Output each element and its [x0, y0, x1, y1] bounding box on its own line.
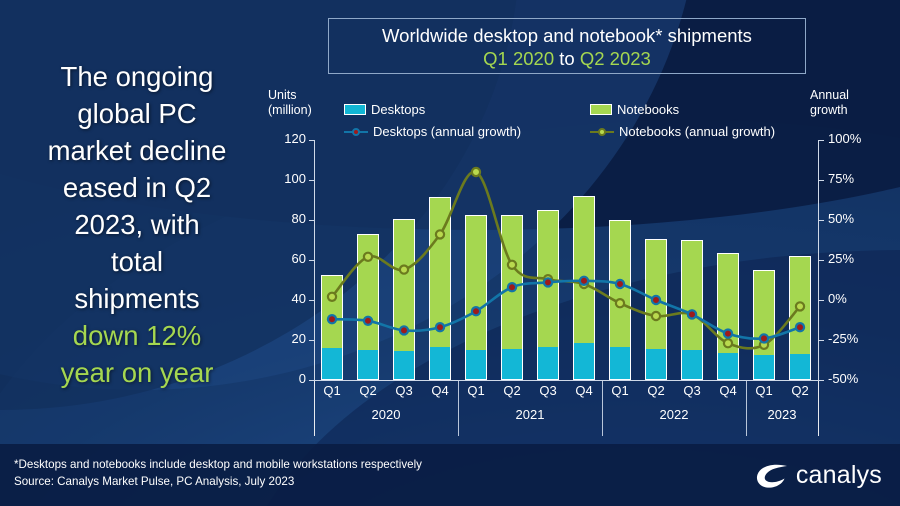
notebooks-growth-marker [364, 253, 372, 261]
chart-x-axis: Q1Q2Q3Q4Q1Q2Q3Q4Q1Q2Q3Q4Q1Q2202020212022… [314, 381, 818, 437]
x-tick-label-quarter: Q3 [530, 383, 566, 398]
headline-line: market decline [6, 132, 268, 169]
year-group-separator [602, 381, 603, 436]
growth-lines-layer [314, 140, 818, 380]
x-tick-label-quarter: Q4 [566, 383, 602, 398]
y-tick-label-right: 100% [828, 131, 884, 146]
desktops-growth-marker [616, 280, 624, 288]
desktops-growth-marker [472, 307, 480, 315]
y-tick-label-right: 50% [828, 211, 884, 226]
legend-label-notebooks-growth: Notebooks (annual growth) [619, 124, 775, 139]
chart-title-box: Worldwide desktop and notebook* shipment… [328, 18, 806, 74]
y-tick-label-left: 120 [258, 131, 306, 146]
canalys-swoosh-icon [755, 460, 789, 490]
x-axis-border [818, 381, 819, 436]
notebooks-growth-marker [508, 261, 516, 269]
right-axis-caption-line1: Annual [810, 88, 849, 103]
y-tick-label-right: 0% [828, 291, 884, 306]
x-tick-label-quarter: Q1 [602, 383, 638, 398]
x-tick-label-quarter: Q2 [494, 383, 530, 398]
notebooks-growth-marker [616, 299, 624, 307]
chart-title-line1: Worldwide desktop and notebook* shipment… [329, 24, 805, 47]
y-tick-right [819, 340, 824, 341]
desktops-growth-marker [328, 315, 336, 323]
y-tick-label-left: 60 [258, 251, 306, 266]
legend-label-desktops: Desktops [371, 102, 425, 117]
notebooks-growth-marker [472, 168, 480, 176]
desktops-growth-marker [724, 330, 732, 338]
desktops-growth-marker [364, 317, 372, 325]
headline-line: shipments [6, 280, 268, 317]
desktops-swatch-icon [344, 104, 366, 115]
legend-item-notebooks: Notebooks [590, 102, 679, 117]
headline-accent-line: down 12% [6, 317, 268, 354]
y-tick-label-right: -25% [828, 331, 884, 346]
notebooks-line-swatch-icon [590, 127, 614, 137]
footnote-asterisk: *Desktops and notebooks include desktop … [14, 456, 422, 473]
footnote: *Desktops and notebooks include desktop … [14, 456, 422, 490]
x-tick-label-quarter: Q1 [746, 383, 782, 398]
chart-title-line2: Q1 2020 to Q2 2023 [329, 47, 805, 70]
chart-title-conjunction: to [559, 48, 574, 69]
y-tick-right [819, 260, 824, 261]
right-axis-caption-line2: growth [810, 103, 849, 118]
left-axis-caption-line1: Units [268, 88, 312, 103]
y-tick-right [819, 300, 824, 301]
notebooks-growth-marker [328, 293, 336, 301]
right-axis-caption: Annual growth [810, 88, 849, 118]
desktops-line-swatch-icon [344, 127, 368, 137]
x-tick-label-quarter: Q2 [782, 383, 818, 398]
desktops-growth-marker [688, 310, 696, 318]
chart-title-end-period: Q2 2023 [580, 48, 651, 69]
notebooks-growth-line [332, 172, 800, 349]
notebooks-growth-marker [796, 302, 804, 310]
x-tick-label-quarter: Q3 [386, 383, 422, 398]
y-tick-label-left: 40 [258, 291, 306, 306]
x-tick-label-quarter: Q1 [458, 383, 494, 398]
desktops-growth-marker [760, 334, 768, 342]
x-tick-label-quarter: Q4 [710, 383, 746, 398]
headline: The ongoingglobal PCmarket declineeased … [6, 58, 268, 391]
y-tick-label-right: 75% [828, 171, 884, 186]
headline-line: global PC [6, 95, 268, 132]
y-tick-right [819, 180, 824, 181]
y-tick-label-left: 100 [258, 171, 306, 186]
notebooks-growth-marker [724, 339, 732, 347]
desktops-growth-marker [508, 283, 516, 291]
desktops-growth-marker [796, 323, 804, 331]
headline-line: 2023, with [6, 206, 268, 243]
left-axis-caption-line2: (million) [268, 103, 312, 118]
x-tick-label-quarter: Q3 [674, 383, 710, 398]
y-tick-label-left: 0 [258, 371, 306, 386]
infographic-canvas: The ongoingglobal PCmarket declineeased … [0, 0, 900, 506]
x-tick-label-quarter: Q1 [314, 383, 350, 398]
x-group-label-year: 2022 [602, 407, 746, 422]
y-tick-right [819, 380, 824, 381]
desktops-growth-marker [436, 323, 444, 331]
desktops-growth-marker [544, 278, 552, 286]
notebooks-growth-marker [400, 266, 408, 274]
y-tick-label-right: 25% [828, 251, 884, 266]
x-tick-label-quarter: Q2 [350, 383, 386, 398]
legend-label-notebooks: Notebooks [617, 102, 679, 117]
chart-plot-area: 020406080100120-50%-25%0%25%50%75%100% [314, 140, 818, 380]
y-tick-label-left: 80 [258, 211, 306, 226]
y-tick-label-right: -50% [828, 371, 884, 386]
headline-line: The ongoing [6, 58, 268, 95]
x-tick-label-quarter: Q4 [422, 383, 458, 398]
year-group-separator [458, 381, 459, 436]
legend-label-desktops-growth: Desktops (annual growth) [373, 124, 521, 139]
x-group-label-year: 2021 [458, 407, 602, 422]
desktops-growth-marker [400, 326, 408, 334]
x-group-label-year: 2023 [746, 407, 818, 422]
legend-item-notebooks-growth: Notebooks (annual growth) [590, 124, 775, 139]
headline-accent-line: year on year [6, 354, 268, 391]
left-axis-caption: Units (million) [268, 88, 312, 118]
headline-line: eased in Q2 [6, 169, 268, 206]
notebooks-growth-marker [436, 230, 444, 238]
x-tick-label-quarter: Q2 [638, 383, 674, 398]
x-group-label-year: 2020 [314, 407, 458, 422]
chart-legend: Desktops Notebooks Desktops (annual grow… [344, 102, 814, 144]
notebooks-swatch-icon [590, 104, 612, 115]
legend-item-desktops-growth: Desktops (annual growth) [344, 124, 521, 139]
y-tick-label-left: 20 [258, 331, 306, 346]
canalys-wordmark: canalys [796, 461, 882, 490]
desktops-growth-marker [580, 277, 588, 285]
footnote-source: Source: Canalys Market Pulse, PC Analysi… [14, 473, 422, 490]
desktops-growth-marker [652, 296, 660, 304]
canalys-logo: canalys [755, 460, 882, 490]
legend-item-desktops: Desktops [344, 102, 425, 117]
headline-line: total [6, 243, 268, 280]
y-tick-right [819, 140, 824, 141]
year-group-separator [746, 381, 747, 436]
notebooks-growth-marker [652, 312, 660, 320]
y-tick-right [819, 220, 824, 221]
chart-title-start-period: Q1 2020 [483, 48, 554, 69]
x-axis-border [314, 381, 315, 436]
